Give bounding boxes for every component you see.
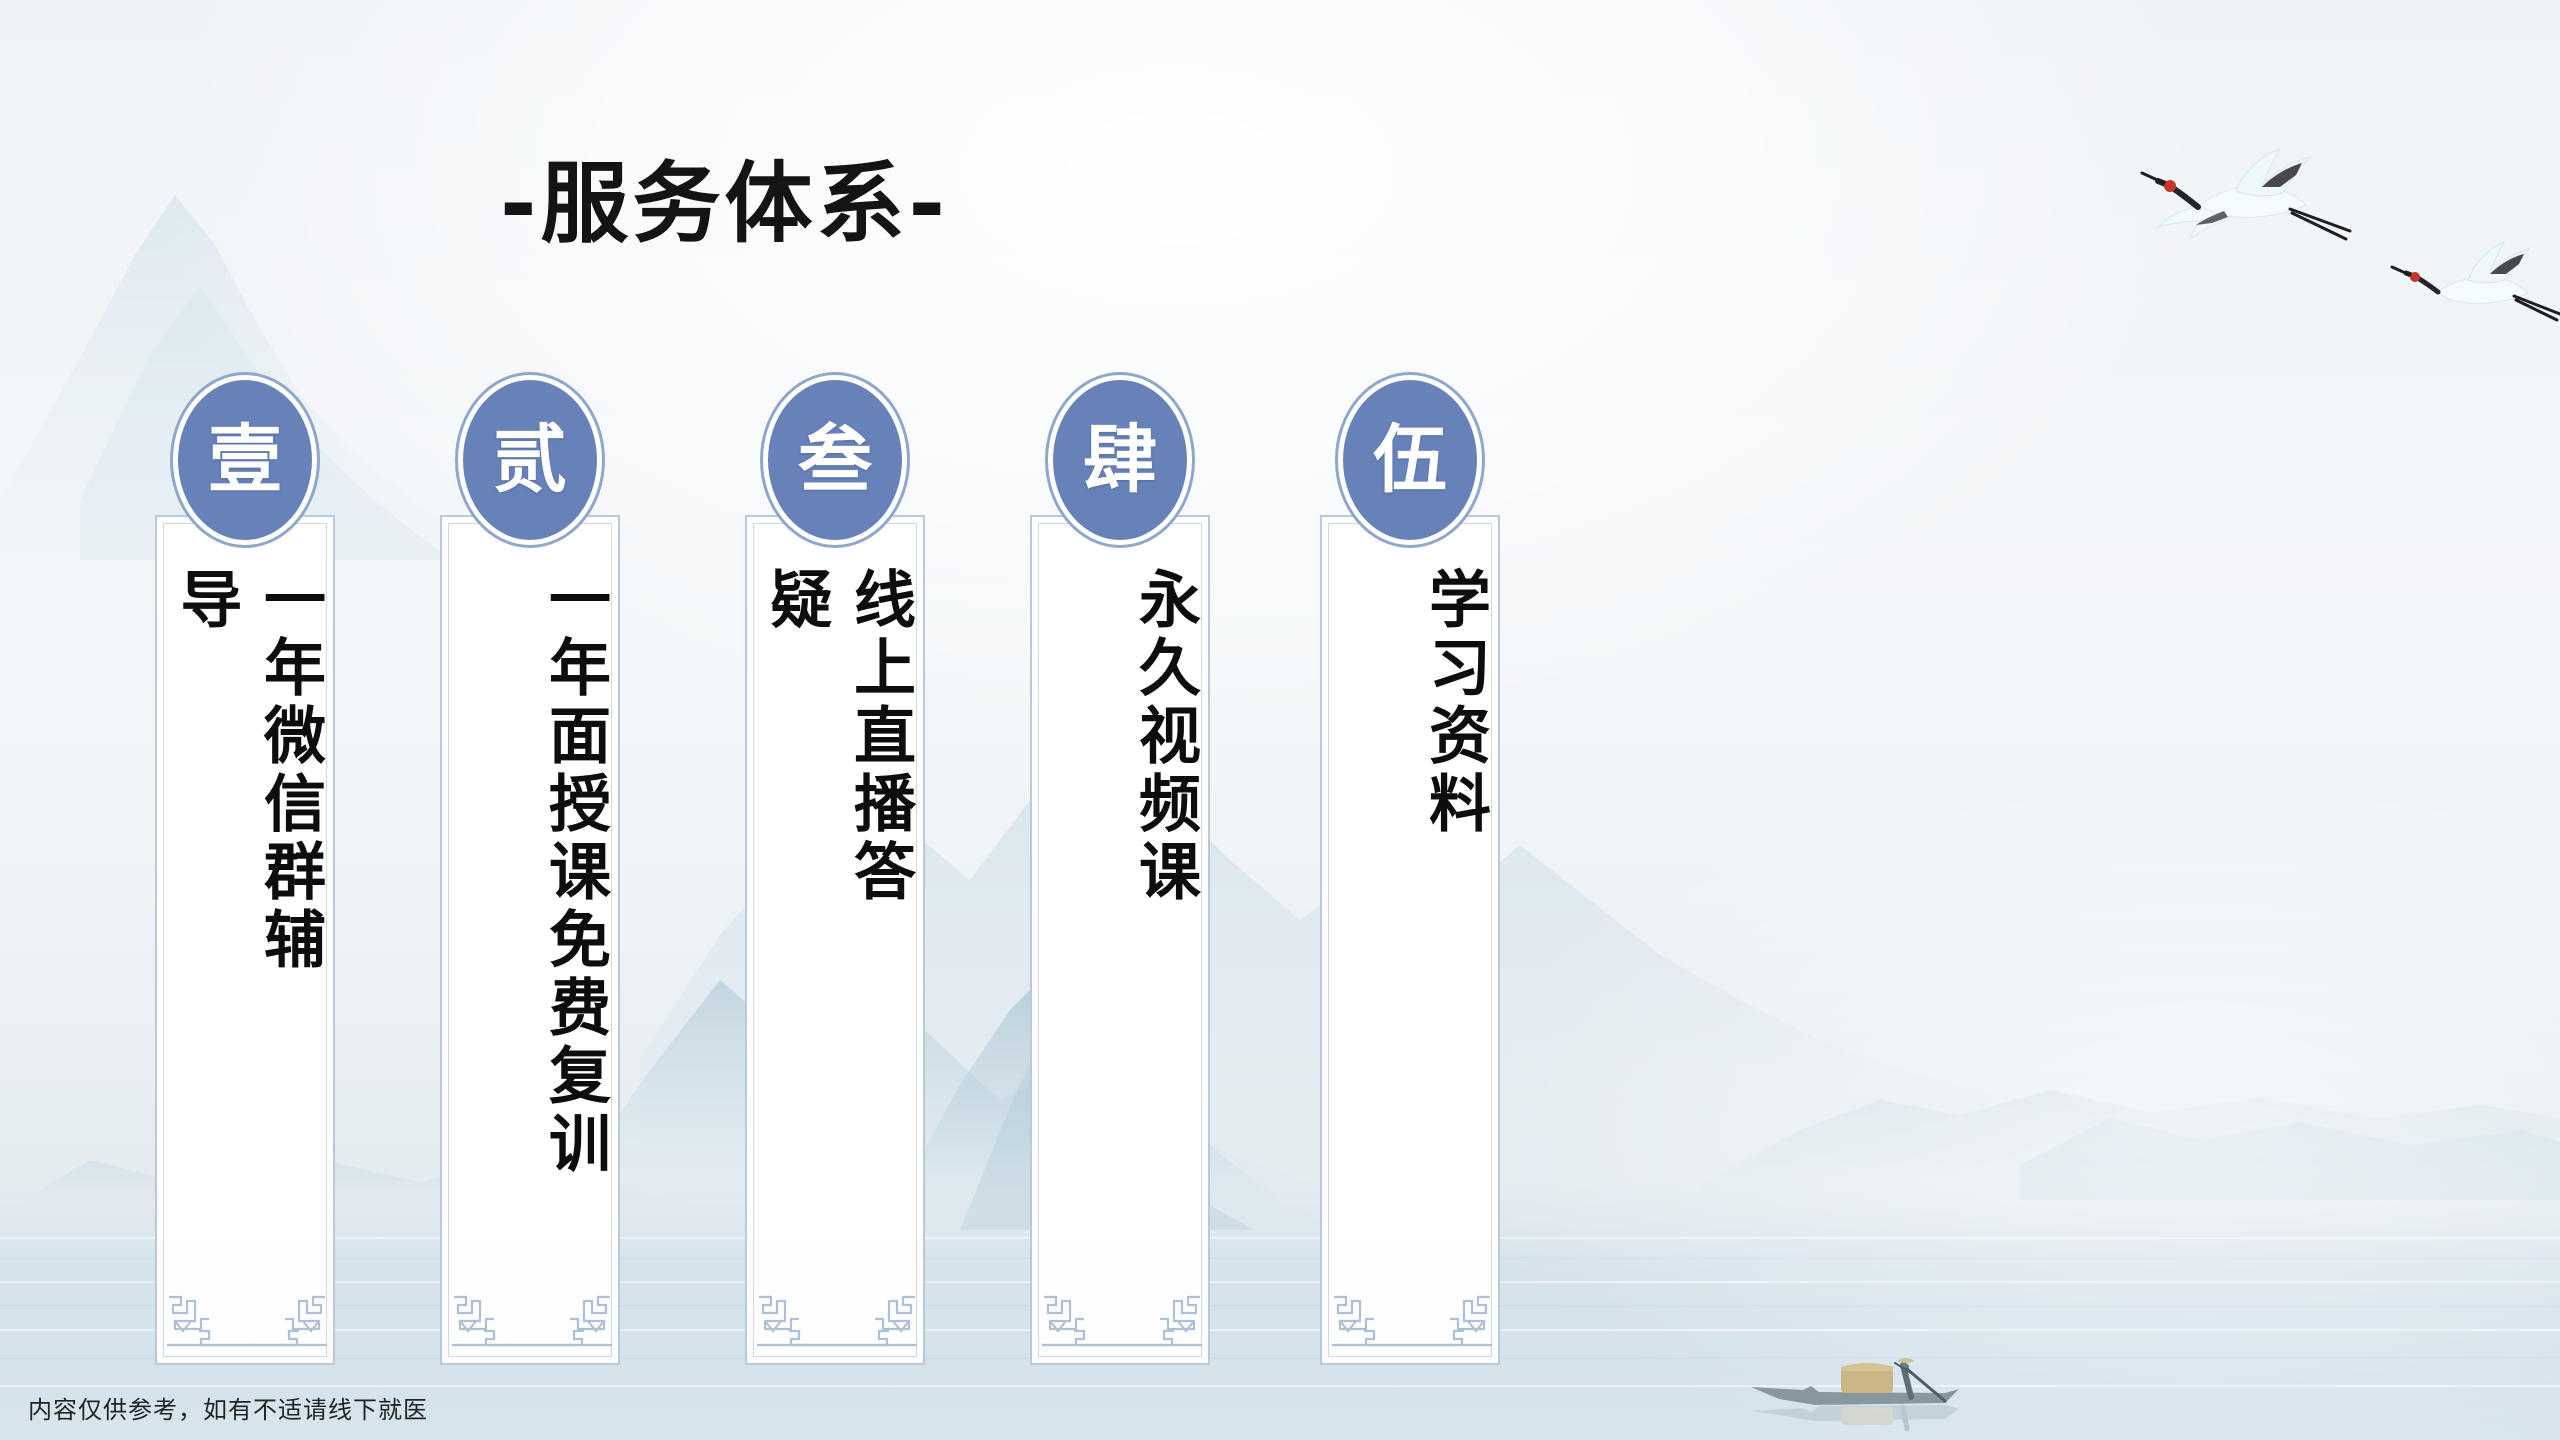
card-body: 一年面授课免费复训 (442, 517, 618, 1363)
card-number-label: 伍 (1373, 423, 1447, 497)
light-bloom (0, 0, 2560, 1440)
card-number-label: 壹 (208, 423, 282, 497)
card-number-badge: 肆 (1048, 375, 1192, 545)
card-number-label: 贰 (493, 423, 567, 497)
card-number-label: 叁 (798, 423, 872, 497)
card-number-label: 肆 (1083, 423, 1157, 497)
slide-canvas: -服务体系- 一年微信群辅 导 壹 一年面授课免费复训 (0, 0, 2560, 1440)
card-text-column-primary: 一年面授课免费复训 (536, 567, 612, 1179)
service-card[interactable]: 学习资料 (1320, 515, 1500, 1365)
light-bloom-secondary (0, 0, 2560, 1440)
card-body: 永久视频课 (1032, 517, 1208, 1363)
card-number-badge: 伍 (1338, 375, 1482, 545)
service-card[interactable]: 线上直播答 疑 (745, 515, 925, 1365)
card-text-column-primary: 线上直播答 (841, 567, 917, 907)
page-title: -服务体系- (500, 160, 949, 248)
card-body: 线上直播答 疑 (747, 517, 923, 1363)
card-body: 一年微信群辅 导 (157, 517, 333, 1363)
card-text-column-secondary: 导 (168, 567, 244, 635)
flying-crane-icon (2390, 230, 2560, 330)
ink-mountain-range (0, 0, 2560, 1440)
card-text-column-secondary: 疑 (758, 567, 834, 635)
flying-crane-icon (2140, 135, 2360, 255)
service-card[interactable]: 一年微信群辅 导 (155, 515, 335, 1365)
card-text-column-primary: 一年微信群辅 (251, 567, 327, 975)
card-number-badge: 贰 (458, 375, 602, 545)
card-number-badge: 壹 (173, 375, 317, 545)
card-text-column-primary: 永久视频课 (1126, 567, 1202, 907)
disclaimer-footnote: 内容仅供参考，如有不适请线下就医 (28, 1390, 428, 1425)
service-card[interactable]: 一年面授课免费复训 (440, 515, 620, 1365)
service-card[interactable]: 永久视频课 (1030, 515, 1210, 1365)
card-body: 学习资料 (1322, 517, 1498, 1363)
fishing-boat-icon (1745, 1345, 2015, 1440)
card-number-badge: 叁 (763, 375, 907, 545)
card-text-column-primary: 学习资料 (1416, 567, 1492, 839)
